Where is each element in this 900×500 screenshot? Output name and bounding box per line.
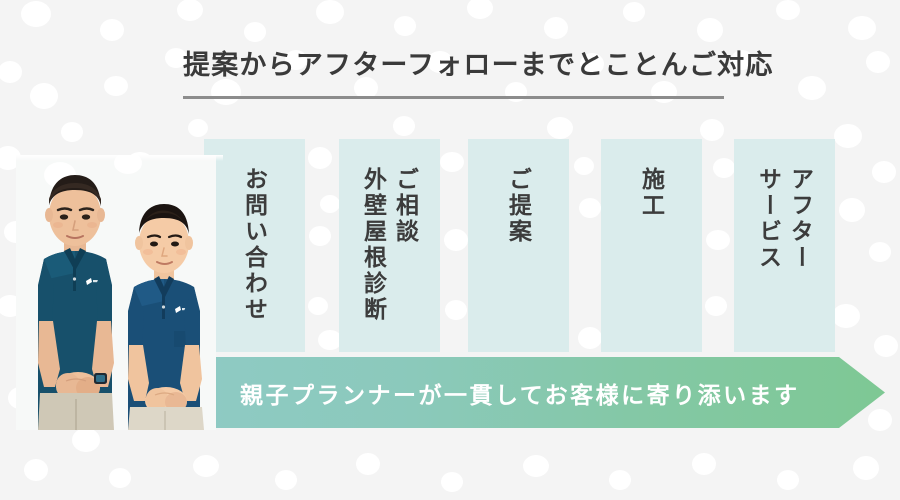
step-card-3: ご提案 <box>468 139 569 352</box>
step-card-4: 施工 <box>601 139 702 352</box>
step-2-column-1: ご相談 <box>391 167 421 245</box>
headline-container: 提案からアフターフォローまでとことんご対応 <box>183 46 725 84</box>
promo-banner: 提案からアフターフォローまでとことんご対応 <box>0 0 900 500</box>
step-card-5: アフター サービス <box>734 139 835 352</box>
page-title: 提案からアフターフォローまでとことんご対応 <box>183 46 725 84</box>
headline-divider <box>183 96 724 99</box>
step-card-2: ご相談 外壁屋根診断 <box>339 139 440 352</box>
step-5-column-1: アフター <box>786 167 816 271</box>
step-1-column-1: お問い合わせ <box>240 167 270 323</box>
process-arrow <box>213 357 885 428</box>
step-2-column-2: 外壁屋根診断 <box>359 167 389 323</box>
step-3-column-1: ご提案 <box>504 167 534 245</box>
step-5-column-2: サービス <box>754 167 784 271</box>
planners-photo <box>8 155 223 430</box>
step-4-column-1: 施工 <box>637 167 667 219</box>
